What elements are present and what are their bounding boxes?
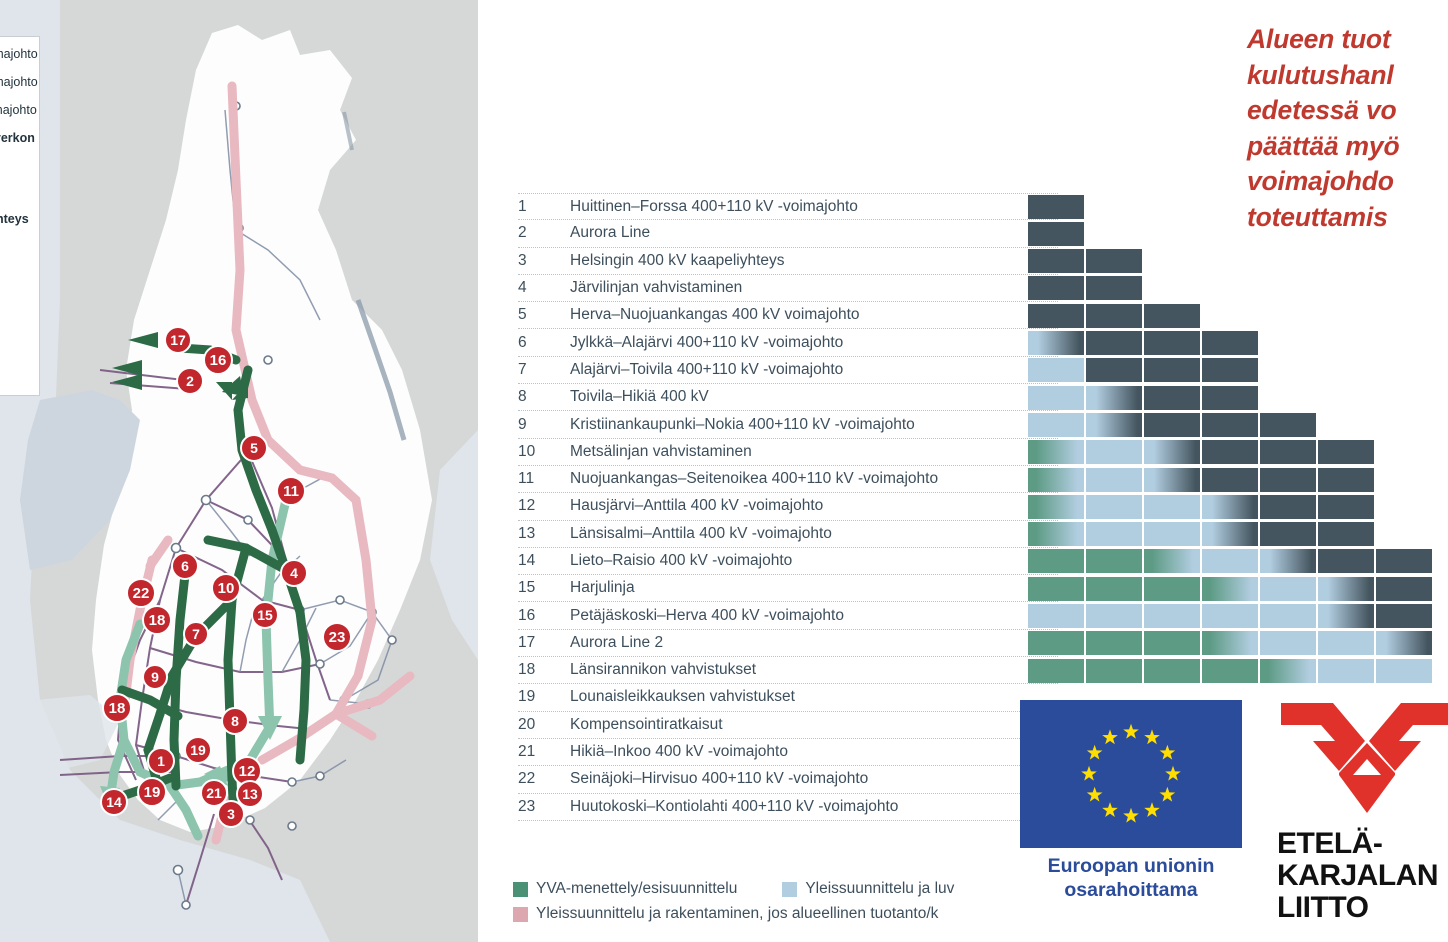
gantt-cell[interactable] <box>1318 549 1374 573</box>
table-row[interactable]: 17Aurora Line 2 <box>518 630 1058 657</box>
row-label: Hausjärvi–Anttila 400 kV -voimajohto <box>570 497 1058 515</box>
map-marker-1[interactable]: 1 <box>147 747 175 775</box>
table-row[interactable]: 3Helsingin 400 kV kaapeliyhteys <box>518 248 1058 275</box>
legend-swatch-green <box>513 882 528 897</box>
gantt-cell[interactable] <box>1144 604 1200 628</box>
row-number: 23 <box>518 798 570 816</box>
eu-caption-line2: osarahoittama <box>1020 878 1242 902</box>
etela-karjala-caption: ETELÄ- KARJALAN LIITTO <box>1277 828 1448 924</box>
row-label: Toivila–Hikiä 400 kV <box>570 388 1058 406</box>
gantt-cell[interactable] <box>1086 440 1142 464</box>
gantt-cell[interactable] <box>1086 522 1142 546</box>
map-marker-9[interactable]: 9 <box>142 664 168 690</box>
gantt-cell[interactable] <box>1318 659 1374 683</box>
gantt-cell[interactable] <box>1028 659 1084 683</box>
row-label: Aurora Line 2 <box>570 634 1058 652</box>
map-legend-line: Suunnitellut vahvistukset verkon <box>0 131 31 146</box>
gantt-cell[interactable] <box>1202 604 1258 628</box>
headline-line-5: voimajohdo <box>1247 164 1448 200</box>
map-legend-card: ——— Nykyinen 400 kV voimajohto ——— Nykyi… <box>0 36 40 396</box>
gantt-cell[interactable] <box>1086 249 1142 273</box>
gantt-cell[interactable] <box>1318 468 1374 492</box>
map-marker-8[interactable]: 8 <box>221 707 249 735</box>
gantt-cell[interactable] <box>1028 331 1084 355</box>
legend-swatch-pink <box>513 907 528 922</box>
gantt-cell[interactable] <box>1144 386 1200 410</box>
table-row[interactable]: 2Aurora Line <box>518 220 1058 247</box>
map-marker-2[interactable]: 2 <box>176 367 204 395</box>
gantt-cell[interactable] <box>1028 249 1084 273</box>
gantt-cell[interactable] <box>1028 386 1084 410</box>
table-row[interactable]: 13Länsisalmi–Anttila 400 kV -voimajohto <box>518 521 1058 548</box>
gantt-cell[interactable] <box>1028 440 1084 464</box>
headline-line-2: kulutushanl <box>1247 58 1448 94</box>
row-label: Seinäjoki–Hirvisuo 400+110 kV -voimajoht… <box>570 770 1058 788</box>
row-number: 19 <box>518 688 570 706</box>
map-marker-4[interactable]: 4 <box>280 559 308 587</box>
row-number: 4 <box>518 279 570 297</box>
gantt-cell[interactable] <box>1144 304 1200 328</box>
map-legend-line: Vahvistettava voimajohtoyhteys <box>0 212 31 227</box>
gantt-cell[interactable] <box>1318 631 1374 655</box>
gantt-cell[interactable] <box>1318 577 1374 601</box>
table-row[interactable]: 21Hikiä–Inkoo 400 kV -voimajohto <box>518 739 1058 766</box>
etela-karjala-mark-icon <box>1277 697 1448 817</box>
gantt-cell[interactable] <box>1086 276 1142 300</box>
gantt-cell[interactable] <box>1086 549 1142 573</box>
table-row[interactable]: 12Hausjärvi–Anttila 400 kV -voimajohto <box>518 493 1058 520</box>
map-marker-18[interactable]: 18 <box>142 605 172 635</box>
row-label: Järvilinjan vahvistaminen <box>570 279 1058 297</box>
table-row[interactable]: 1Huittinen–Forssa 400+110 kV -voimajohto <box>518 193 1058 220</box>
chart-legend: YVA-menettely/esisuunnittelu Yleissuunni… <box>513 880 1073 923</box>
table-row[interactable]: 7Alajärvi–Toivila 400+110 kV -voimajohto <box>518 357 1058 384</box>
gantt-cell[interactable] <box>1028 577 1084 601</box>
gantt-cell[interactable] <box>1260 468 1316 492</box>
row-number: 5 <box>518 306 570 324</box>
gantt-cell[interactable] <box>1144 440 1200 464</box>
row-label: Alajärvi–Toivila 400+110 kV -voimajohto <box>570 361 1058 379</box>
row-number: 6 <box>518 334 570 352</box>
map-marker-5[interactable]: 5 <box>240 434 268 462</box>
ek-caption-line3: LIITTO <box>1277 892 1448 924</box>
gantt-cell[interactable] <box>1086 331 1142 355</box>
gantt-cell[interactable] <box>1086 659 1142 683</box>
row-label: Metsälinjan vahvistaminen <box>570 443 1058 461</box>
gantt-cell[interactable] <box>1376 577 1432 601</box>
gantt-cell[interactable] <box>1376 549 1432 573</box>
gantt-cell[interactable] <box>1144 631 1200 655</box>
map-marker-17[interactable]: 17 <box>164 326 192 354</box>
gantt-row <box>1028 357 1448 384</box>
table-row[interactable]: 16Petäjäskoski–Herva 400 kV -voimajohto <box>518 602 1058 629</box>
map-marker-11[interactable]: 11 <box>276 476 306 506</box>
gantt-cell[interactable] <box>1260 659 1316 683</box>
gantt-cell[interactable] <box>1202 386 1258 410</box>
legend-item-yleissuunnittelu: Yleissuunnittelu ja luv <box>782 880 954 898</box>
gantt-cell[interactable] <box>1318 495 1374 519</box>
row-number: 17 <box>518 634 570 652</box>
legend-item-yva: YVA-menettely/esisuunnittelu <box>513 880 737 898</box>
gantt-cell[interactable] <box>1144 468 1200 492</box>
headline-line-6: toteuttamis <box>1247 200 1448 236</box>
row-label: Kristiinankaupunki–Nokia 400+110 kV -voi… <box>570 416 1058 434</box>
table-row[interactable]: 11Nuojuankangas–Seitenoikea 400+110 kV -… <box>518 466 1058 493</box>
gantt-cell[interactable] <box>1260 413 1316 437</box>
ek-caption-line1: ETELÄ- <box>1277 828 1448 860</box>
gantt-cell[interactable] <box>1202 468 1258 492</box>
map-marker-23[interactable]: 23 <box>322 622 352 652</box>
gantt-cell[interactable] <box>1202 577 1258 601</box>
row-number: 8 <box>518 388 570 406</box>
gantt-cell[interactable] <box>1202 549 1258 573</box>
gantt-cell[interactable] <box>1028 358 1084 382</box>
gantt-cell[interactable] <box>1260 522 1316 546</box>
map-marker-15[interactable]: 15 <box>251 601 279 629</box>
row-label: Harjulinja <box>570 579 1058 597</box>
gantt-cell[interactable] <box>1086 304 1142 328</box>
row-number: 18 <box>518 661 570 679</box>
gantt-row <box>1028 275 1448 302</box>
gantt-cell[interactable] <box>1086 495 1142 519</box>
map-legend-line: ——— Nykyinen 220 kV voimajohto <box>0 75 31 90</box>
row-label: Nuojuankangas–Seitenoikea 400+110 kV -vo… <box>570 470 1058 488</box>
table-row[interactable]: 5Herva–Nuojuankangas 400 kV voimajohto <box>518 302 1058 329</box>
gantt-cell[interactable] <box>1144 413 1200 437</box>
headline-callout: Alueen tuotkulutushanledetessä vopäättää… <box>1247 22 1448 235</box>
gantt-cell[interactable] <box>1028 631 1084 655</box>
table-row[interactable]: 15Harjulinja <box>518 575 1058 602</box>
gantt-cell[interactable] <box>1144 522 1200 546</box>
map-marker-3[interactable]: 3 <box>217 800 245 828</box>
eu-stars-icon <box>1020 700 1242 848</box>
gantt-row <box>1028 602 1448 629</box>
gantt-cell[interactable] <box>1086 386 1142 410</box>
map-legend-line: kulutus toteutuu riittävän suurena <box>0 265 31 277</box>
gantt-cell[interactable] <box>1144 331 1200 355</box>
row-label: Lieto–Raisio 400 kV -voimajohto <box>570 552 1058 570</box>
headline-line-4: päättää myö <box>1247 129 1448 165</box>
gantt-cell[interactable] <box>1028 549 1084 573</box>
gantt-row <box>1028 248 1448 275</box>
row-number: 14 <box>518 552 570 570</box>
eu-caption-line1: Euroopan unionin <box>1020 854 1242 878</box>
row-label: Huutokoski–Kontiolahti 400+110 kV -voima… <box>570 798 1058 816</box>
row-number: 2 <box>518 224 570 242</box>
gantt-cell[interactable] <box>1202 440 1258 464</box>
gantt-row <box>1028 329 1448 356</box>
gantt-cell[interactable] <box>1144 659 1200 683</box>
table-row[interactable]: 10Metsälinjan vahvistaminen <box>518 439 1058 466</box>
gantt-cell[interactable] <box>1086 604 1142 628</box>
row-number: 10 <box>518 443 570 461</box>
table-row[interactable]: 8Toivila–Hikiä 400 kV <box>518 384 1058 411</box>
map-marker-10[interactable]: 10 <box>211 573 241 603</box>
row-number: 16 <box>518 607 570 625</box>
map-marker-19[interactable]: 19 <box>184 736 212 764</box>
row-number: 9 <box>518 416 570 434</box>
etela-karjala-logo: ETELÄ- KARJALAN LIITTO <box>1277 697 1448 924</box>
row-label: Petäjäskoski–Herva 400 kV -voimajohto <box>570 607 1058 625</box>
gantt-cell[interactable] <box>1086 413 1142 437</box>
gantt-cell[interactable] <box>1260 440 1316 464</box>
gantt-row <box>1028 657 1448 684</box>
gantt-row <box>1028 493 1448 520</box>
headline-line-1: Alueen tuot <box>1247 22 1448 58</box>
gantt-cell[interactable] <box>1028 604 1084 628</box>
gantt-row <box>1028 575 1448 602</box>
row-label: Huittinen–Forssa 400+110 kV -voimajohto <box>570 198 1058 216</box>
gantt-cell[interactable] <box>1202 522 1258 546</box>
row-number: 11 <box>518 470 570 488</box>
row-label: Aurora Line <box>570 224 1058 242</box>
legend-label: Yleissuunnittelu ja rakentaminen, jos al… <box>536 905 938 923</box>
map-marker-22[interactable]: 22 <box>126 578 156 608</box>
gantt-cell[interactable] <box>1144 495 1200 519</box>
gantt-row <box>1028 384 1448 411</box>
row-number: 13 <box>518 525 570 543</box>
map-marker-14[interactable]: 14 <box>100 788 128 816</box>
map-panel[interactable]: 171625116104152218723918819112141921133 … <box>0 0 478 942</box>
map-legend-line: ——— Nykyinen 400 kV voimajohto <box>0 47 31 62</box>
gantt-cell[interactable] <box>1144 549 1200 573</box>
gantt-cell[interactable] <box>1376 659 1432 683</box>
table-row[interactable]: 23Huutokoski–Kontiolahti 400+110 kV -voi… <box>518 794 1058 821</box>
row-number: 1 <box>518 198 570 216</box>
row-number: 3 <box>518 252 570 270</box>
table-row[interactable]: 22Seinäjoki–Hirvisuo 400+110 kV -voimajo… <box>518 766 1058 793</box>
row-label: Länsirannikon vahvistukset <box>570 661 1058 679</box>
row-label: Lounaisleikkauksen vahvistukset <box>570 688 1058 706</box>
map-marker-7[interactable]: 7 <box>183 621 209 647</box>
gantt-cell[interactable] <box>1318 522 1374 546</box>
gantt-row <box>1028 630 1448 657</box>
project-list-table[interactable]: 1Huittinen–Forssa 400+110 kV -voimajohto… <box>518 193 1058 821</box>
row-number: 21 <box>518 743 570 761</box>
row-label: Kompensointiratkaisut <box>570 716 1058 734</box>
gantt-cell[interactable] <box>1144 358 1200 382</box>
gantt-cell[interactable] <box>1260 549 1316 573</box>
gantt-cell[interactable] <box>1376 631 1432 655</box>
legend-label: Yleissuunnittelu ja luv <box>805 880 954 898</box>
gantt-row <box>1028 302 1448 329</box>
eu-logo: Euroopan unionin osarahoittama <box>1020 700 1242 902</box>
row-number: 20 <box>518 716 570 734</box>
gantt-cell[interactable] <box>1086 358 1142 382</box>
gantt-cell[interactable] <box>1318 440 1374 464</box>
gantt-row <box>1028 439 1448 466</box>
gantt-cell[interactable] <box>1028 468 1084 492</box>
table-row[interactable]: 4Järvilinjan vahvistaminen <box>518 275 1058 302</box>
eu-logo-caption: Euroopan unionin osarahoittama <box>1020 854 1242 902</box>
legend-swatch-blue <box>782 882 797 897</box>
gantt-cell[interactable] <box>1028 195 1084 219</box>
row-number: 12 <box>518 497 570 515</box>
row-number: 22 <box>518 770 570 788</box>
row-number: 15 <box>518 579 570 597</box>
gantt-cell[interactable] <box>1144 577 1200 601</box>
gantt-cell[interactable] <box>1202 631 1258 655</box>
gantt-cell[interactable] <box>1202 495 1258 519</box>
gantt-cell[interactable] <box>1260 577 1316 601</box>
row-number: 7 <box>518 361 570 379</box>
row-label: Hikiä–Inkoo 400 kV -voimajohto <box>570 743 1058 761</box>
gantt-cell[interactable] <box>1376 604 1432 628</box>
gantt-cell[interactable] <box>1260 604 1316 628</box>
gantt-cell[interactable] <box>1260 631 1316 655</box>
row-label: Helsingin 400 kV kaapeliyhteys <box>570 252 1058 270</box>
gantt-cell[interactable] <box>1202 358 1258 382</box>
ek-caption-line2: KARJALAN <box>1277 860 1448 892</box>
row-label: Herva–Nuojuankangas 400 kV voimajohto <box>570 306 1058 324</box>
table-row[interactable]: 6Jylkkä–Alajärvi 400+110 kV -voimajohto <box>518 329 1058 356</box>
legend-label: YVA-menettely/esisuunnittelu <box>536 880 737 898</box>
gantt-row <box>1028 466 1448 493</box>
gantt-cell[interactable] <box>1202 413 1258 437</box>
gantt-cell[interactable] <box>1202 331 1258 355</box>
legend-item-conditional: Yleissuunnittelu ja rakentaminen, jos al… <box>513 905 938 923</box>
table-row[interactable]: 18Länsirannikon vahvistukset <box>518 657 1058 684</box>
row-label: Jylkkä–Alajärvi 400+110 kV -voimajohto <box>570 334 1058 352</box>
gantt-cell[interactable] <box>1028 304 1084 328</box>
table-row[interactable]: 19Lounaisleikkauksen vahvistukset <box>518 684 1058 711</box>
gantt-cell[interactable] <box>1028 276 1084 300</box>
map-marker-16[interactable]: 16 <box>203 345 233 375</box>
eu-flag-icon <box>1020 700 1242 848</box>
headline-line-3: edetessä vo <box>1247 93 1448 129</box>
gantt-cell[interactable] <box>1260 495 1316 519</box>
map-legend-line: ——— Nykyinen 110 kV voimajohto <box>0 103 31 118</box>
table-row[interactable]: 9Kristiinankaupunki–Nokia 400+110 kV -vo… <box>518 411 1058 438</box>
table-row[interactable]: 20Kompensointiratkaisut <box>518 712 1058 739</box>
gantt-cell[interactable] <box>1086 577 1142 601</box>
gantt-cell[interactable] <box>1028 495 1084 519</box>
map-legend-line: Toteutetaan, jos alueen tuotanto/ <box>0 240 31 252</box>
map-legend-line: kehittämissuunnitelmassa <box>0 159 31 171</box>
gantt-cell[interactable] <box>1028 222 1084 246</box>
table-row[interactable]: 14Lieto–Raisio 400 kV -voimajohto <box>518 548 1058 575</box>
row-label: Länsisalmi–Anttila 400 kV -voimajohto <box>570 525 1058 543</box>
gantt-cell[interactable] <box>1086 631 1142 655</box>
gantt-cell[interactable] <box>1318 604 1374 628</box>
gantt-row <box>1028 521 1448 548</box>
gantt-cell[interactable] <box>1086 468 1142 492</box>
gantt-row <box>1028 411 1448 438</box>
gantt-cell[interactable] <box>1028 522 1084 546</box>
map-marker-18[interactable]: 18 <box>102 693 132 723</box>
map-marker-19[interactable]: 19 <box>137 777 167 807</box>
map-marker-6[interactable]: 6 <box>171 552 199 580</box>
gantt-row <box>1028 548 1448 575</box>
gantt-cell[interactable] <box>1028 413 1084 437</box>
map-legend-line: Suunniteltu uusi voimajohto <box>0 184 31 199</box>
gantt-cell[interactable] <box>1202 659 1258 683</box>
